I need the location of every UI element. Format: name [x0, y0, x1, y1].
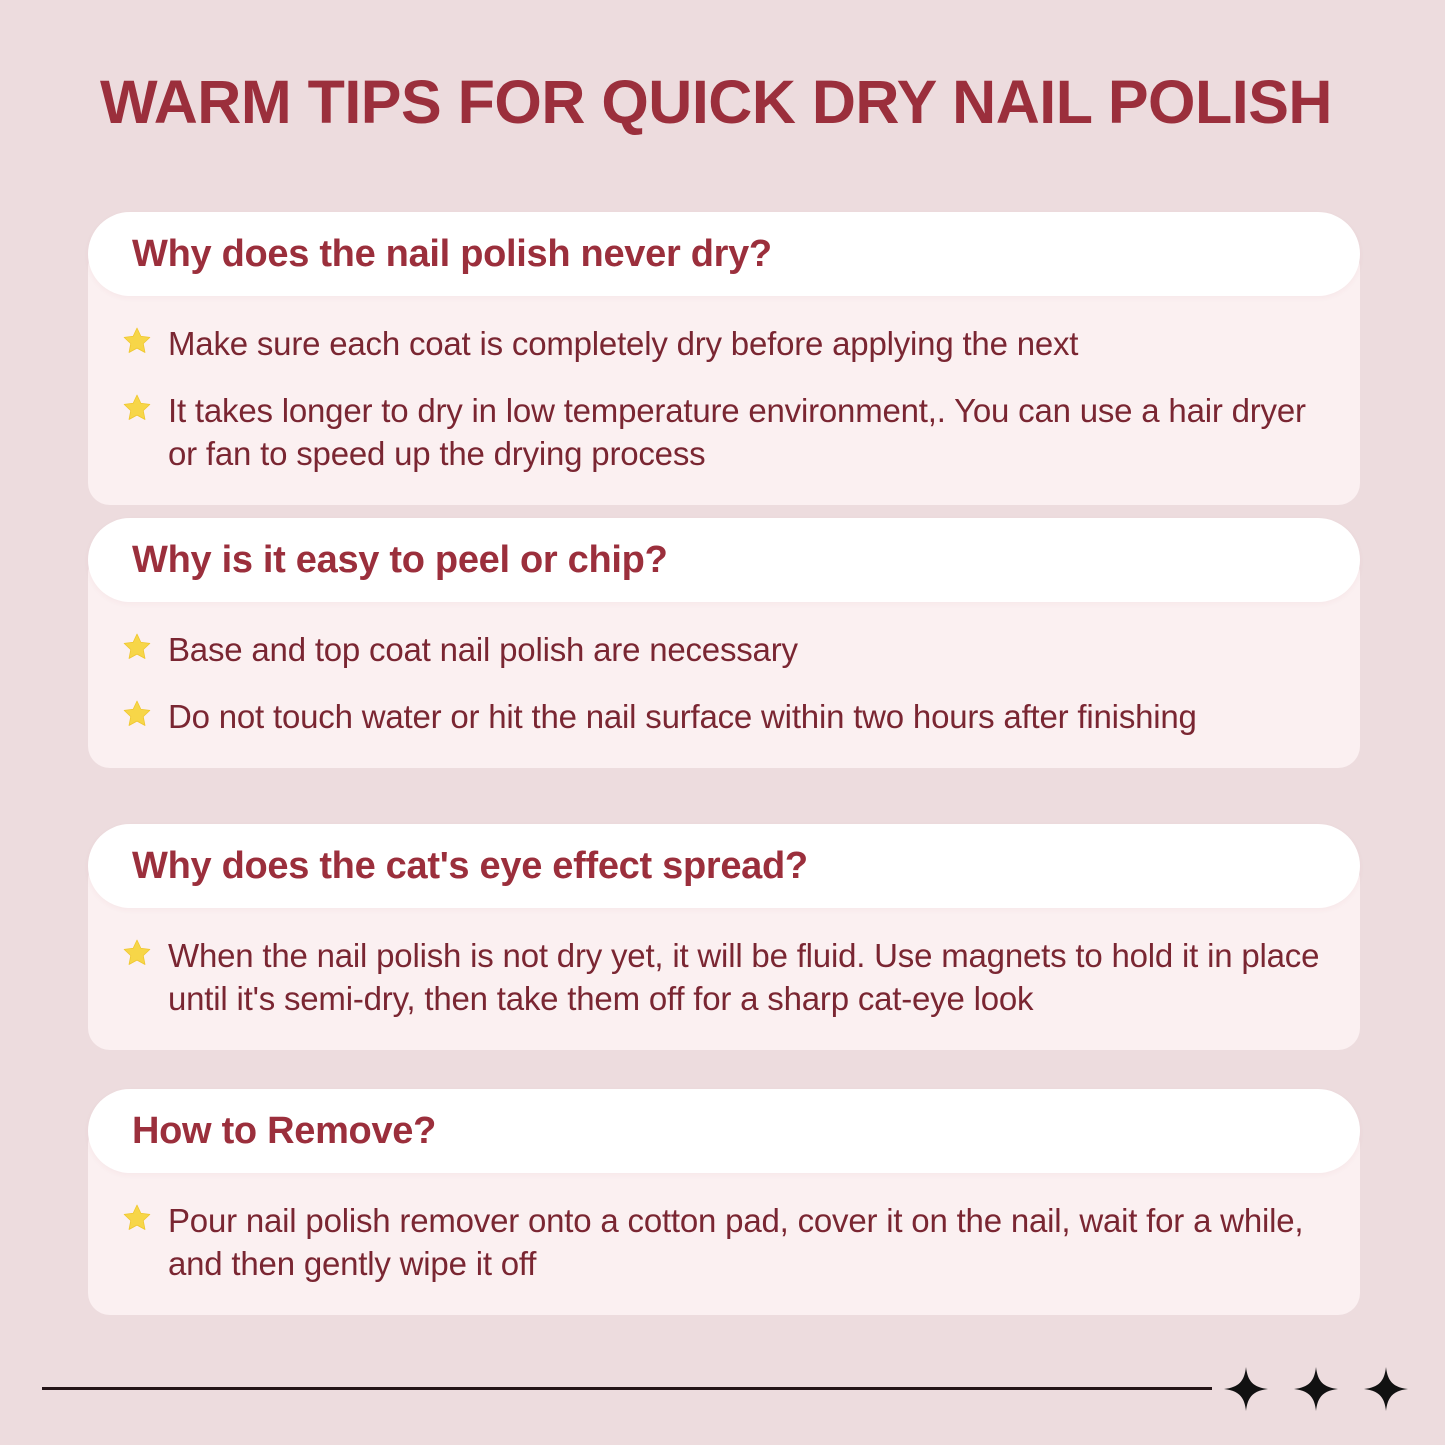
- footer-decoration: [0, 1365, 1445, 1445]
- list-item: Make sure each coat is completely dry be…: [122, 322, 1326, 365]
- tip-card-2-bullets: Base and top coat nail polish are necess…: [122, 628, 1326, 738]
- star-icon: [122, 632, 158, 668]
- tip-card-1-heading: Why does the nail polish never dry?: [132, 234, 772, 274]
- tip-card-4: Pour nail polish remover onto a cotton p…: [88, 1089, 1360, 1173]
- tip-card-2-header: Why is it easy to peel or chip?: [88, 518, 1360, 602]
- star-icon: [122, 1203, 158, 1239]
- list-item-text: When the nail polish is not dry yet, it …: [168, 934, 1326, 1020]
- page-title: WARM TIPS FOR QUICK DRY NAIL POLISH: [100, 66, 1370, 138]
- list-item: When the nail polish is not dry yet, it …: [122, 934, 1326, 1020]
- list-item-text: It takes longer to dry in low temperatur…: [168, 389, 1326, 475]
- list-item: Base and top coat nail polish are necess…: [122, 628, 1326, 671]
- list-item: Do not touch water or hit the nail surfa…: [122, 695, 1326, 738]
- tip-card-3-header: Why does the cat's eye effect spread?: [88, 824, 1360, 908]
- four-point-star-icon: [1292, 1365, 1340, 1413]
- tip-card-1-bullets: Make sure each coat is completely dry be…: [122, 322, 1326, 475]
- four-point-star-icon: [1362, 1365, 1410, 1413]
- four-point-star-icon: [1222, 1365, 1270, 1413]
- list-item-text: Do not touch water or hit the nail surfa…: [168, 695, 1197, 738]
- list-item-text: Make sure each coat is completely dry be…: [168, 322, 1078, 365]
- tip-card-4-bullets: Pour nail polish remover onto a cotton p…: [122, 1199, 1326, 1285]
- tip-card-4-heading: How to Remove?: [132, 1111, 436, 1151]
- star-icon: [122, 699, 158, 735]
- tip-card-1: Make sure each coat is completely dry be…: [88, 212, 1360, 296]
- divider: [42, 1387, 1212, 1390]
- list-item: It takes longer to dry in low temperatur…: [122, 389, 1326, 475]
- tip-card-1-header: Why does the nail polish never dry?: [88, 212, 1360, 296]
- tip-card-2-heading: Why is it easy to peel or chip?: [132, 540, 668, 580]
- tip-card-3: When the nail polish is not dry yet, it …: [88, 824, 1360, 908]
- star-icon: [122, 393, 158, 429]
- sparkle-group: [1222, 1365, 1410, 1413]
- star-icon: [122, 938, 158, 974]
- star-icon: [122, 326, 158, 362]
- list-item: Pour nail polish remover onto a cotton p…: [122, 1199, 1326, 1285]
- tip-card-3-bullets: When the nail polish is not dry yet, it …: [122, 934, 1326, 1020]
- tip-card-3-heading: Why does the cat's eye effect spread?: [132, 846, 808, 886]
- infographic-page: WARM TIPS FOR QUICK DRY NAIL POLISH Make…: [0, 0, 1445, 1445]
- list-item-text: Base and top coat nail polish are necess…: [168, 628, 798, 671]
- tip-card-2: Base and top coat nail polish are necess…: [88, 518, 1360, 602]
- tip-card-4-header: How to Remove?: [88, 1089, 1360, 1173]
- list-item-text: Pour nail polish remover onto a cotton p…: [168, 1199, 1326, 1285]
